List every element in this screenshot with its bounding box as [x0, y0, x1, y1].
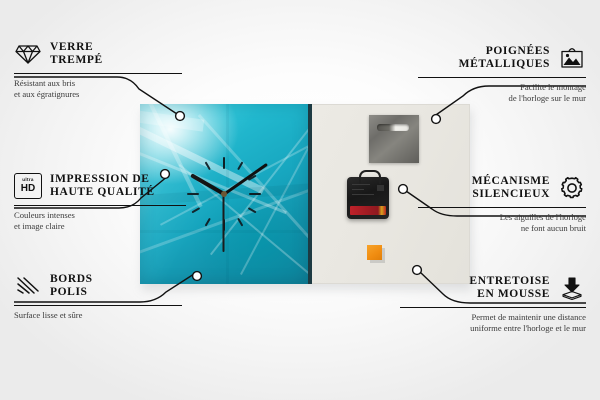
movement-detail [352, 189, 364, 190]
callout-impression-haute-qualite[interactable]: ultra HD IMPRESSION DE HAUTE QUALITÉ Cou… [14, 172, 186, 231]
callout-header: MÉCANISME SILENCIEUX [418, 174, 586, 202]
movement-detail [352, 184, 370, 185]
quartz-movement [347, 177, 389, 219]
foam-spacer [367, 245, 382, 260]
callout-rule [400, 307, 586, 308]
callout-header: ENTRETOISE EN MOUSSE [400, 274, 586, 302]
feather-strand [140, 110, 204, 132]
polished-edges-icon [14, 272, 42, 300]
callout-title: POIGNÉES MÉTALLIQUES [459, 45, 550, 71]
callout-rule [418, 77, 586, 78]
callout-subtitle: Couleurs intenses et image claire [14, 210, 186, 231]
callout-subtitle: Surface lisse et sûre [14, 310, 182, 321]
clock-hand-cap [221, 191, 227, 197]
callout-rule [14, 305, 182, 306]
gear-icon [558, 174, 586, 202]
movement-detail [352, 194, 374, 195]
callout-poignees-metalliques[interactable]: POIGNÉES MÉTALLIQUES Facilite le montage… [418, 44, 586, 103]
callout-mecanisme-silencieux[interactable]: MÉCANISME SILENCIEUX Les aiguilles de l'… [418, 174, 586, 233]
callout-title: VERRE TREMPÉ [50, 41, 103, 67]
callout-subtitle: Facilite le montage de l'horloge sur le … [418, 82, 586, 103]
callout-bords-polis[interactable]: BORDS POLIS Surface lisse et sûre [14, 272, 182, 321]
callout-rule [14, 205, 186, 206]
press-down-icon [558, 274, 586, 302]
callout-verre-trempe[interactable]: VERRE TREMPÉ Résistant aux bris et aux é… [14, 40, 182, 99]
callout-subtitle: Permet de maintenir une distance uniform… [400, 312, 586, 333]
infographic-canvas: VERRE TREMPÉ Résistant aux bris et aux é… [0, 0, 600, 400]
callout-header: VERRE TREMPÉ [14, 40, 182, 68]
callout-rule [14, 73, 182, 74]
callout-rule [418, 207, 586, 208]
callout-entretoise-en-mousse[interactable]: ENTRETOISE EN MOUSSE Permet de maintenir… [400, 274, 586, 333]
diamond-icon [14, 40, 42, 68]
frame-hanger-icon [558, 44, 586, 72]
metal-hanger-plate [369, 115, 419, 163]
callout-title: BORDS POLIS [50, 273, 93, 299]
ultra-hd-icon: ultra HD [14, 172, 42, 200]
callout-header: BORDS POLIS [14, 272, 182, 300]
callout-header: POIGNÉES MÉTALLIQUES [418, 44, 586, 72]
hanger-keyhole-slot [377, 124, 409, 131]
callout-subtitle: Les aiguilles de l'horloge ne font aucun… [418, 212, 586, 233]
callout-header: ultra HD IMPRESSION DE HAUTE QUALITÉ [14, 172, 186, 200]
movement-hanger-loop [359, 170, 381, 184]
callout-subtitle: Résistant aux bris et aux égratignures [14, 78, 182, 99]
aa-battery [350, 206, 386, 215]
callout-title: ENTRETOISE EN MOUSSE [469, 275, 550, 301]
movement-detail [377, 185, 384, 191]
callout-title: IMPRESSION DE HAUTE QUALITÉ [50, 173, 155, 199]
callout-title: MÉCANISME SILENCIEUX [472, 175, 550, 201]
